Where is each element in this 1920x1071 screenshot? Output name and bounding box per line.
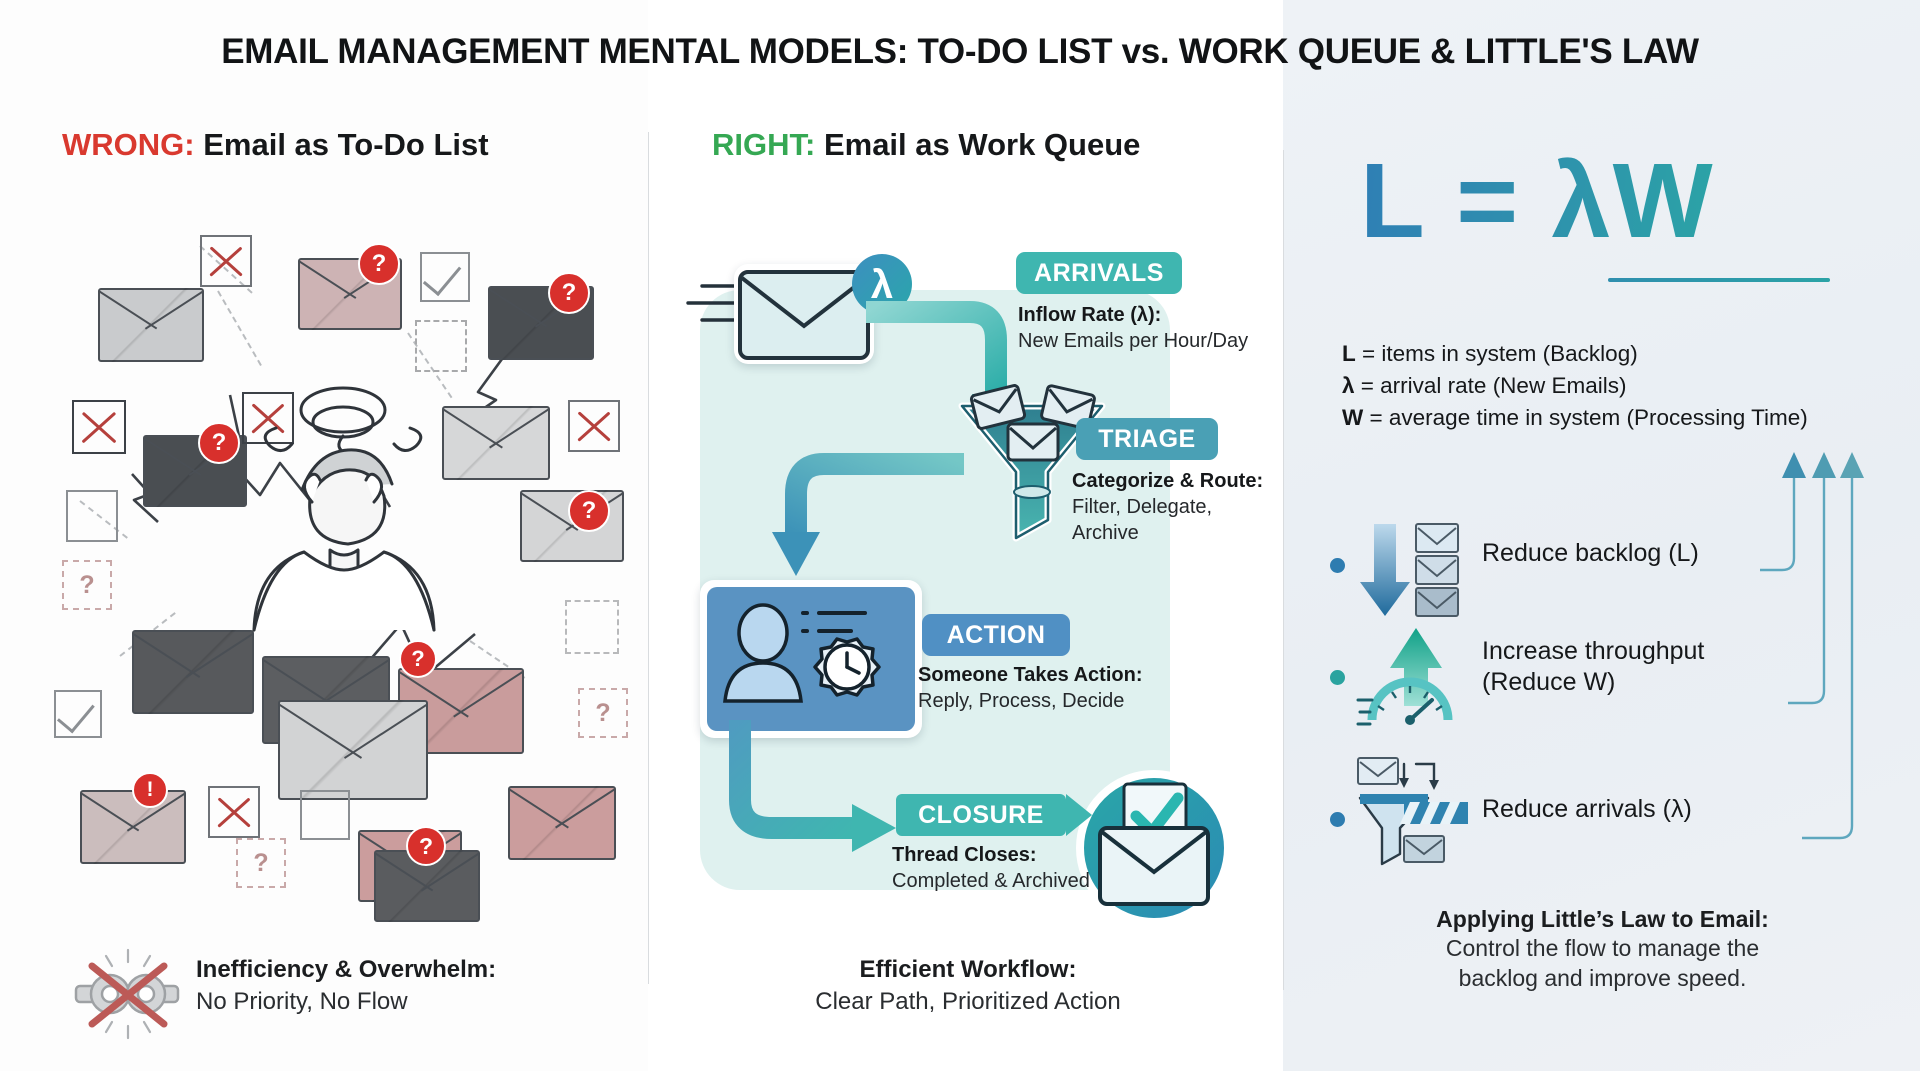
badge-closure: CLOSURE	[896, 794, 1066, 836]
right-footer-bold: Applying Little’s Law to Email:	[1305, 905, 1900, 934]
wrong-tag: WRONG:	[62, 127, 195, 162]
definition-L-symbol: L	[1342, 341, 1356, 366]
overwhelmed-person-icon	[218, 380, 468, 640]
question-badge-icon: ?	[568, 490, 610, 532]
flow-arrow-triage	[718, 450, 978, 590]
caption-arrivals: Inflow Rate (λ): New Emails per Hour/Day	[1018, 302, 1288, 354]
chaos-envelope	[132, 630, 254, 714]
caption-action-bold: Someone Takes Action:	[918, 662, 1218, 688]
definition-W-text: = average time in system (Processing Tim…	[1363, 405, 1808, 430]
formula-definitions: L = items in system (Backlog) λ = arriva…	[1342, 338, 1920, 435]
caption-action: Someone Takes Action: Reply, Process, De…	[918, 662, 1218, 714]
caption-triage-line2: Archive	[1072, 520, 1312, 546]
checkbox-checked-icon	[54, 690, 102, 738]
left-footer-bold: Inefficiency & Overwhelm:	[196, 955, 626, 986]
x-checkbox-icon	[208, 786, 260, 838]
broken-gears-crossed-out-icon	[72, 948, 182, 1040]
bullet-throughput-line2: (Reduce W)	[1482, 667, 1704, 698]
empty-checkbox-icon	[66, 490, 118, 542]
caption-closure-bold: Thread Closes:	[892, 842, 1192, 868]
bullet-dot	[1330, 812, 1345, 827]
x-checkbox-icon	[568, 400, 620, 452]
badge-triage-label: TRIAGE	[1098, 425, 1195, 454]
caption-arrivals-bold: Inflow Rate (λ):	[1018, 302, 1288, 328]
definition-L-text: = items in system (Backlog)	[1356, 341, 1638, 366]
middle-panel-footer: Efficient Workflow: Clear Path, Prioriti…	[668, 955, 1268, 1017]
caption-closure: Thread Closes: Completed & Archived	[892, 842, 1192, 894]
bullet-reduce-arrivals-label: Reduce arrivals (λ)	[1482, 794, 1692, 825]
divider-left	[648, 132, 649, 984]
question-badge-icon: ?	[406, 826, 446, 866]
funnel-filter-envelopes-icon	[1358, 754, 1470, 858]
littles-law-formula: L = λW	[1360, 148, 1715, 254]
caption-arrivals-normal: New Emails per Hour/Day	[1018, 328, 1288, 354]
chaos-envelope	[508, 786, 616, 860]
dashed-question-box-icon: ?	[236, 838, 286, 888]
middle-panel-header: RIGHT: Email as Work Queue	[712, 127, 1140, 163]
middle-panel-header-text: Email as Work Queue	[824, 127, 1140, 162]
question-badge-icon: ?	[548, 272, 590, 314]
alert-badge-icon: !	[132, 772, 168, 808]
question-badge-icon: ?	[358, 243, 400, 285]
definition-W-symbol: W	[1342, 405, 1363, 430]
x-checkbox-icon	[72, 400, 126, 454]
bullet-increase-throughput: Increase throughput (Reduce W)	[1330, 628, 1890, 754]
speedometer-up-arrow-icon	[1358, 628, 1470, 732]
improvement-bullets: Reduce backlog (L)	[1330, 520, 1890, 874]
right-panel-footer: Applying Little’s Law to Email: Control …	[1305, 905, 1900, 994]
bullet-reduce-backlog: Reduce backlog (L)	[1330, 520, 1890, 628]
left-panel-header-text: Email as To-Do List	[203, 127, 488, 162]
badge-action-label: ACTION	[947, 621, 1046, 650]
badge-arrivals: ARRIVALS	[1016, 252, 1182, 294]
right-footer-line1: Control the flow to manage the	[1305, 934, 1900, 964]
bullet-increase-throughput-label: Increase throughput (Reduce W)	[1482, 636, 1704, 697]
definition-L: L = items in system (Backlog)	[1342, 338, 1920, 370]
left-panel-header: WRONG: Email as To-Do List	[62, 127, 489, 163]
empty-checkbox-icon	[300, 790, 350, 840]
down-arrow-envelopes-icon	[1358, 520, 1470, 624]
chaos-envelope	[80, 790, 186, 864]
question-badge-icon: ?	[399, 640, 437, 678]
dashed-question-box-icon: ?	[578, 688, 628, 738]
infographic-canvas: EMAIL MANAGEMENT MENTAL MODELS: TO-DO LI…	[0, 0, 1920, 1071]
checkbox-checked-icon	[420, 252, 470, 302]
left-footer-normal: No Priority, No Flow	[196, 986, 626, 1017]
flow-arrow-action	[728, 716, 918, 856]
caption-triage-bold: Categorize & Route:	[1072, 468, 1312, 494]
bullet-reduce-backlog-label: Reduce backlog (L)	[1482, 538, 1699, 569]
definition-W: W = average time in system (Processing T…	[1342, 402, 1920, 434]
right-tag: RIGHT:	[712, 127, 815, 162]
caption-action-normal: Reply, Process, Decide	[918, 688, 1218, 714]
badge-arrivals-label: ARRIVALS	[1034, 259, 1164, 288]
page-title: EMAIL MANAGEMENT MENTAL MODELS: TO-DO LI…	[0, 32, 1920, 72]
caption-triage-line1: Filter, Delegate,	[1072, 494, 1312, 520]
right-footer-line2: backlog and improve speed.	[1305, 964, 1900, 994]
dashed-checkbox-icon	[415, 320, 467, 372]
middle-footer-bold: Efficient Workflow:	[668, 955, 1268, 986]
chaos-envelope	[278, 700, 428, 800]
bullet-dot	[1330, 558, 1345, 573]
x-checkbox-icon	[200, 235, 252, 287]
definition-lambda-text: = arrival rate (New Emails)	[1355, 373, 1627, 398]
middle-footer-normal: Clear Path, Prioritized Action	[668, 986, 1268, 1017]
action-card	[700, 580, 922, 738]
caption-closure-normal: Completed & Archived	[892, 868, 1192, 894]
definition-lambda-symbol: λ	[1342, 373, 1355, 398]
bullet-dot	[1330, 670, 1345, 685]
badge-triage: TRIAGE	[1076, 418, 1218, 460]
left-panel-footer: Inefficiency & Overwhelm: No Priority, N…	[196, 955, 626, 1017]
dashed-question-box-icon: ?	[62, 560, 112, 610]
dashed-checkbox-icon	[565, 600, 619, 654]
person-gear-clock-icon	[707, 587, 901, 717]
caption-triage: Categorize & Route: Filter, Delegate, Ar…	[1072, 468, 1312, 547]
formula-underline	[1608, 278, 1830, 282]
definition-lambda: λ = arrival rate (New Emails)	[1342, 370, 1920, 402]
bullet-reduce-arrivals: Reduce arrivals (λ)	[1330, 754, 1890, 874]
badge-action: ACTION	[922, 614, 1070, 656]
badge-closure-label: CLOSURE	[918, 801, 1044, 830]
bullet-throughput-line1: Increase throughput	[1482, 636, 1704, 667]
divider-right	[1283, 150, 1284, 990]
